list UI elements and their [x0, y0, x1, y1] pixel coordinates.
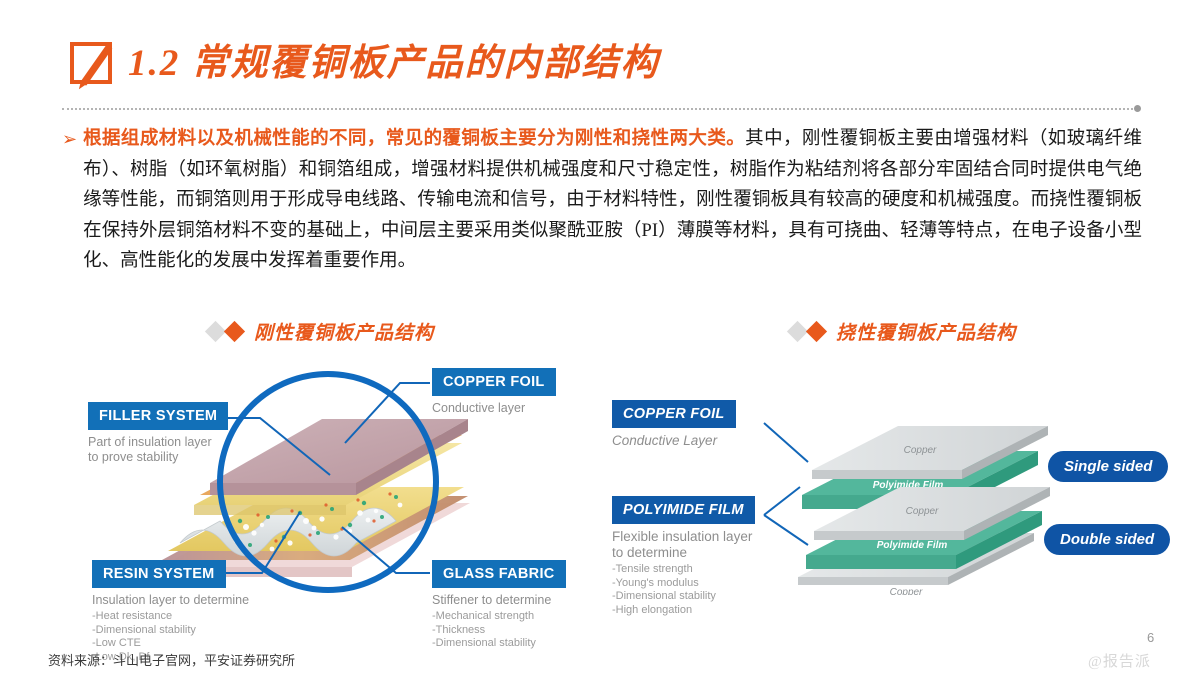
copper-label-double-top: Copper: [906, 506, 939, 517]
polyimide-film-tag: POLYIMIDE FILM: [612, 496, 755, 524]
edit-note-icon: [70, 42, 112, 84]
paragraph-highlight: 根据组成材料以及机械性能的不同，常见的覆铜板主要分为刚性和挠性两大类。: [83, 129, 745, 149]
slide-header: 1.2 常规覆铜板产品的内部结构: [70, 42, 660, 84]
glass-fabric-sub: Stiffener to determine: [432, 593, 612, 608]
page-title: 1.2 常规覆铜板产品的内部结构: [128, 45, 660, 82]
filler-system-tag: FILLER SYSTEM: [88, 402, 228, 430]
paragraph-rest: 其中，刚性覆铜板主要由增强材料（如玻璃纤维布）、树脂（如环氧树脂）和铜箔组成，增…: [83, 129, 1142, 271]
slide-canvas: 1.2 常规覆铜板产品的内部结构 ➢ 根据组成材料以及机械性能的不同，常见的覆铜…: [0, 0, 1200, 675]
copper-foil-sub: Conductive layer: [432, 401, 582, 416]
bullet-arrow-icon: ➢: [62, 124, 77, 277]
section-header-flex: 挠性覆铜板产品结构: [790, 318, 1016, 345]
body-paragraph-block: ➢ 根据组成材料以及机械性能的不同，常见的覆铜板主要分为刚性和挠性两大类。其中，…: [62, 124, 1142, 277]
callout-copper-foil-flex: COPPER FOIL Conductive Layer: [612, 400, 782, 449]
section-header-rigid: 刚性覆铜板产品结构: [208, 318, 434, 345]
diamond-orange-icon: [224, 321, 245, 342]
header-divider-endcap: [1134, 105, 1141, 112]
badge-single-sided: Single sided: [1048, 451, 1168, 482]
source-note: 资料来源：斗山电子官网，平安证券研究所: [48, 650, 295, 669]
polyimide-film-bullets: -Tensile strength -Young's modulus -Dime…: [612, 563, 787, 617]
diamond-orange-icon: [806, 321, 827, 342]
resin-system-sub: Insulation layer to determine: [92, 593, 282, 608]
copper-foil-flex-sub: Conductive Layer: [612, 433, 782, 449]
callout-polyimide-film: POLYIMIDE FILM Flexible insulation layer…: [612, 496, 787, 617]
callout-resin-system: RESIN SYSTEM Insulation layer to determi…: [92, 560, 282, 664]
watermark: @报告派: [1088, 650, 1151, 671]
glass-fabric-bullets: -Mechanical strength -Thickness -Dimensi…: [432, 610, 612, 651]
filler-system-sub: Part of insulation layer to prove stabil…: [88, 435, 238, 465]
section-header-flex-label: 挠性覆铜板产品结构: [836, 318, 1016, 345]
copper-label-single-top: Copper: [904, 445, 937, 456]
resin-system-tag: RESIN SYSTEM: [92, 560, 226, 588]
callout-copper-foil-rigid: COPPER FOIL Conductive layer: [432, 368, 582, 416]
callout-glass-fabric: GLASS FABRIC Stiffener to determine -Mec…: [432, 560, 612, 651]
badge-double-sided: Double sided: [1044, 524, 1170, 555]
header-divider: [62, 108, 1137, 110]
callout-filler-system: FILLER SYSTEM Part of insulation layer t…: [88, 402, 238, 465]
copper-foil-tag: COPPER FOIL: [432, 368, 556, 396]
glass-fabric-tag: GLASS FABRIC: [432, 560, 566, 588]
body-paragraph: 根据组成材料以及机械性能的不同，常见的覆铜板主要分为刚性和挠性两大类。其中，刚性…: [83, 124, 1142, 277]
polyimide-film-sub: Flexible insulation layer to determine: [612, 529, 787, 561]
copper-label-double-bottom: Copper: [890, 587, 923, 595]
polyimide-label-double: Polyimide Film: [877, 540, 948, 551]
copper-foil-flex-tag: COPPER FOIL: [612, 400, 736, 428]
section-header-rigid-label: 刚性覆铜板产品结构: [254, 318, 434, 345]
page-number: 6: [1147, 630, 1154, 645]
